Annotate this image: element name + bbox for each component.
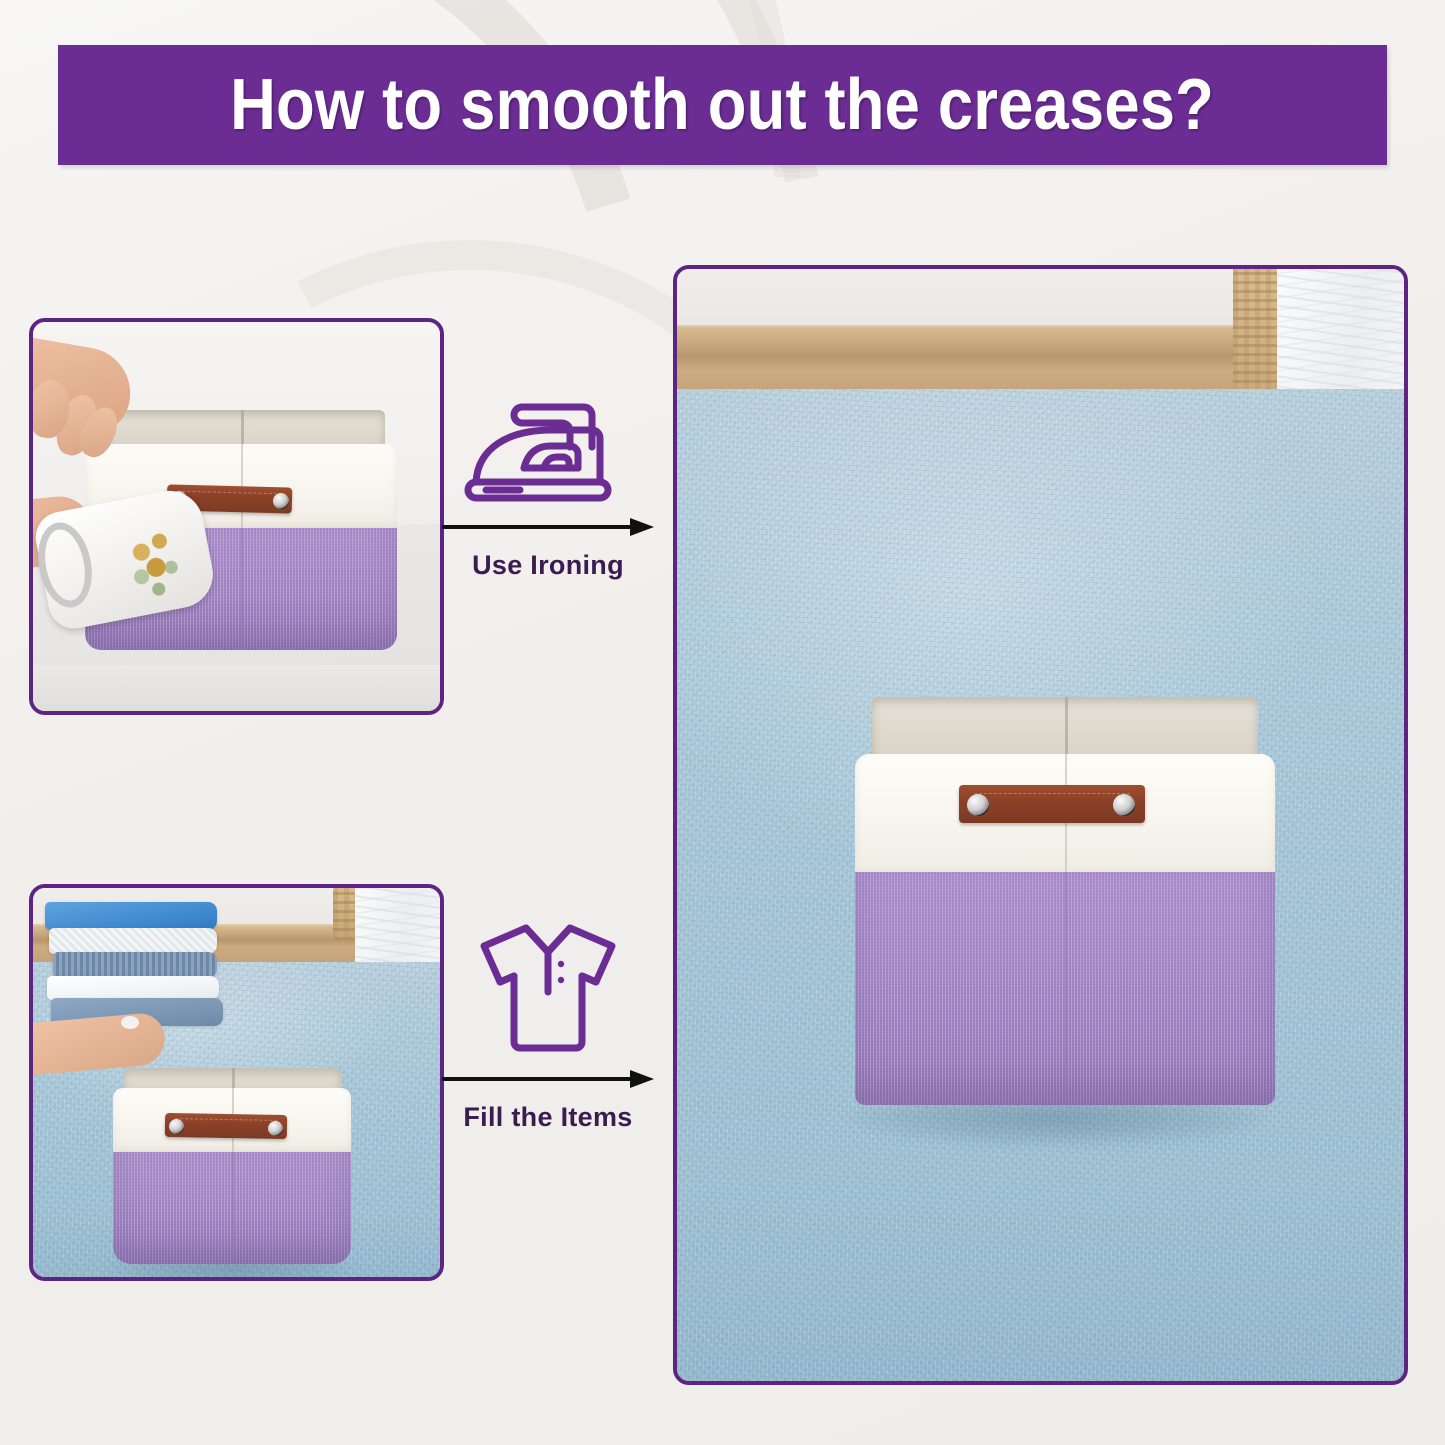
folded-cloth-white	[47, 976, 219, 1000]
basket-interior-divider	[1065, 697, 1068, 762]
silver-grommet-right	[268, 1121, 283, 1136]
iron-icon	[460, 390, 636, 510]
basket-purple-body	[113, 1152, 351, 1264]
step-arrow-1	[442, 516, 654, 538]
storage-basket	[113, 1068, 351, 1264]
step-arrow-2	[442, 1068, 654, 1090]
photo-panel-fill-the-items	[29, 884, 444, 1281]
arrow-line	[442, 525, 632, 529]
folded-cloth-blue	[45, 902, 217, 930]
silver-grommet-right	[273, 493, 289, 509]
studio-surface	[33, 665, 440, 711]
fingernail	[121, 1016, 139, 1029]
storage-basket	[855, 697, 1275, 1105]
scene-result	[677, 269, 1404, 1381]
scene-filling	[33, 888, 440, 1277]
title-banner: How to smooth out the creases?	[58, 45, 1387, 165]
shirt-button-top	[558, 961, 564, 967]
folded-cloth-gray-ribbed	[53, 952, 217, 978]
step-fill-the-items: Fill the Items	[430, 910, 666, 1133]
scene-ironing	[33, 322, 440, 711]
silver-grommet-right	[1113, 794, 1135, 816]
photo-panel-result	[673, 265, 1408, 1385]
arrow-head	[630, 518, 654, 536]
silver-grommet-left	[967, 794, 989, 816]
page-title: How to smooth out the creases?	[231, 64, 1215, 146]
shirt-icon	[460, 910, 636, 1062]
step-label-fill-the-items: Fill the Items	[463, 1102, 632, 1133]
arrow-line	[442, 1077, 632, 1081]
step-label-use-ironing: Use Ironing	[472, 550, 624, 581]
photo-panel-use-ironing	[29, 318, 444, 715]
step-use-ironing: Use Ironing	[430, 390, 666, 581]
arrow-head	[630, 1070, 654, 1088]
shirt-button-bottom	[558, 977, 564, 983]
basket-purple-body	[855, 872, 1275, 1105]
silver-grommet-left	[169, 1119, 184, 1134]
folded-cloth-white-textured	[49, 928, 217, 954]
